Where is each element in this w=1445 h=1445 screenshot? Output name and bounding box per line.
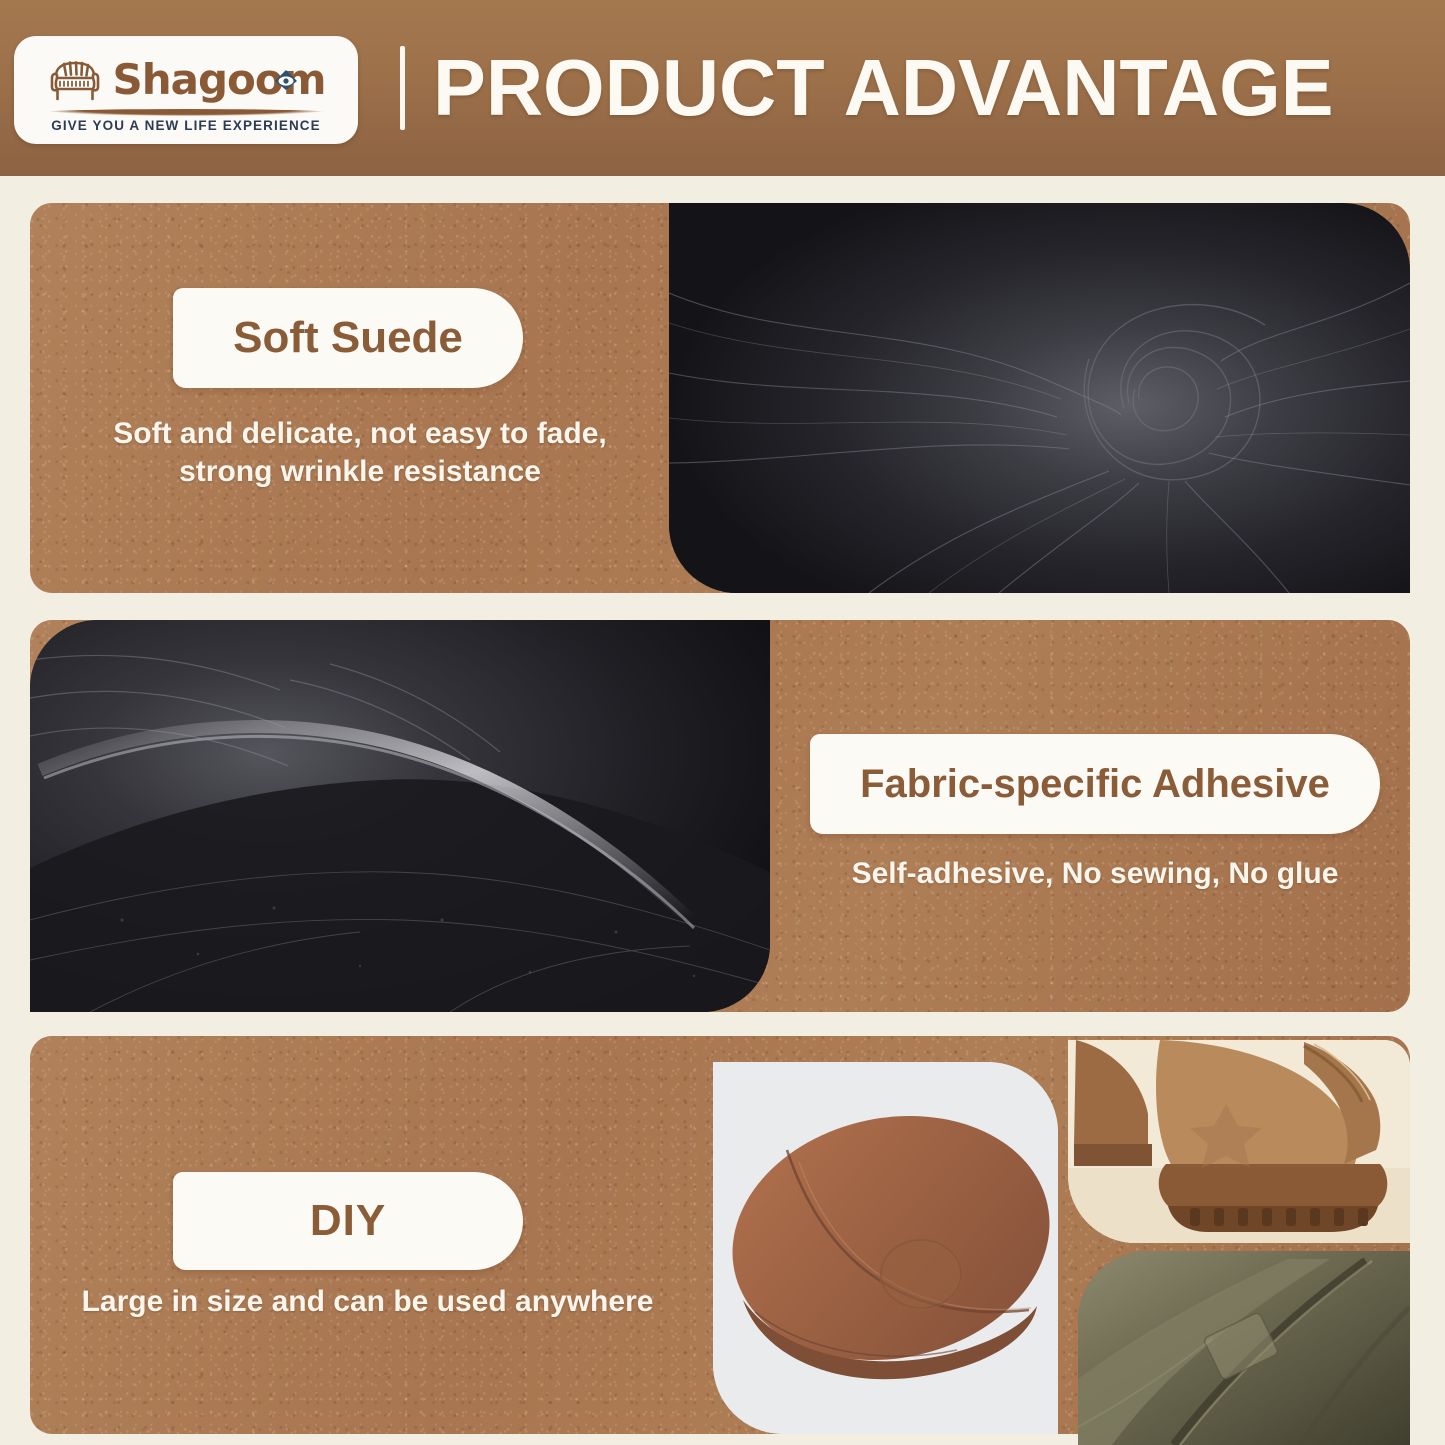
diy-platform-slippers-image: [1068, 1040, 1410, 1243]
badge-adhesive-label: Fabric-specific Adhesive: [860, 762, 1330, 807]
brand-tagline: GIVE YOU A NEW LIFE EXPERIENCE: [51, 118, 321, 133]
badge-fabric-specific-adhesive: Fabric-specific Adhesive: [810, 734, 1380, 834]
brand-wordmark: Shagoom: [112, 52, 325, 108]
page-title: PRODUCT ADVANTAGE: [433, 38, 1334, 138]
header-banner: Shagoom GIVE YOU A NEW LIFE EXPERIENCE P…: [0, 0, 1445, 176]
description-adhesive: Self-adhesive, No sewing, No glue: [795, 855, 1395, 893]
eye-mark-icon: [273, 68, 299, 92]
description-soft-suede: Soft and delicate, not easy to fade, str…: [70, 415, 650, 492]
diy-flat-cap-image: [713, 1062, 1058, 1434]
olive-garment-illustration: [1078, 1251, 1410, 1445]
brand-logo-row: Shagoom: [46, 49, 325, 111]
badge-soft-suede: Soft Suede: [173, 288, 523, 388]
badge-diy-label: DIY: [310, 1196, 386, 1246]
logo-underline-swash: [41, 109, 331, 116]
swirl-fabric-illustration: [669, 203, 1410, 593]
slipper-boots-illustration: [1068, 1040, 1410, 1243]
adhesive-texture-illustration: [30, 620, 770, 1012]
adhesive-backing-image: [30, 620, 770, 1012]
soft-suede-fabric-image: [669, 203, 1410, 593]
description-diy: Large in size and can be used anywhere: [45, 1283, 690, 1321]
header-divider: [400, 46, 405, 130]
badge-diy: DIY: [173, 1172, 523, 1270]
badge-soft-suede-label: Soft Suede: [233, 313, 463, 363]
flat-cap-illustration: [713, 1062, 1058, 1434]
sofa-icon: [46, 56, 104, 104]
diy-olive-fabric-image: [1078, 1251, 1410, 1445]
product-advantage-infographic: Shagoom GIVE YOU A NEW LIFE EXPERIENCE P…: [0, 0, 1445, 1445]
brand-logo-card: Shagoom GIVE YOU A NEW LIFE EXPERIENCE: [14, 36, 358, 144]
